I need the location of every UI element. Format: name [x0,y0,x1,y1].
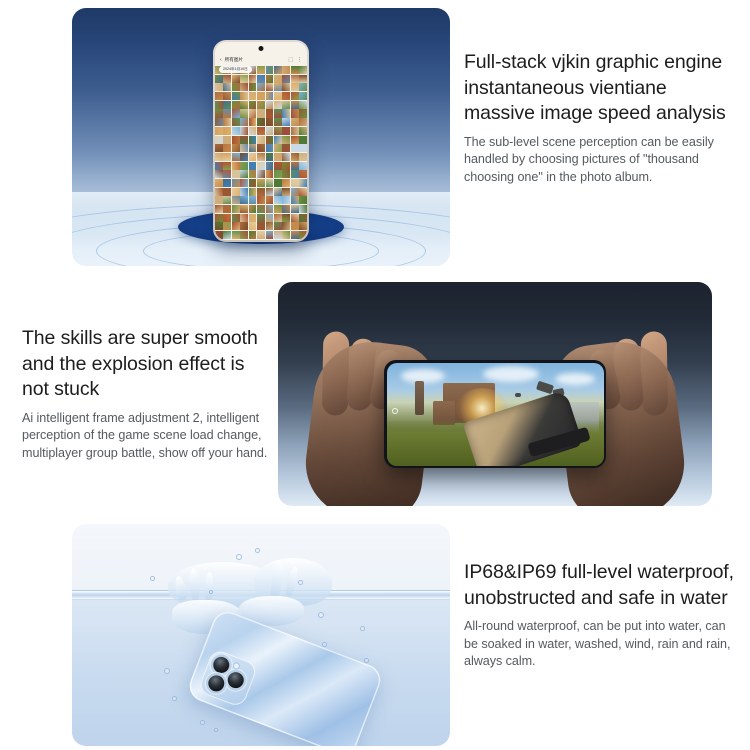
camera-module [197,648,258,708]
photo-thumbnail[interactable] [249,170,257,178]
photo-thumbnail[interactable] [257,109,265,117]
photo-thumbnail[interactable] [232,127,240,135]
photo-thumbnail[interactable] [223,179,231,187]
photo-thumbnail[interactable] [240,170,248,178]
photo-thumbnail[interactable] [266,144,274,152]
photo-thumbnail[interactable] [240,136,248,144]
photo-thumbnail[interactable] [215,153,223,161]
photo-thumbnail[interactable] [299,196,307,204]
photo-thumbnail[interactable] [232,222,240,230]
photo-thumbnail[interactable] [249,136,257,144]
photo-thumbnail[interactable] [232,231,240,239]
feature-headline: IP68&IP69 full-level waterproof, unobstr… [464,560,742,611]
phone-screen[interactable]: ‹ 所有图片 ⬚ ⋮ 2024年1月10日 [215,42,307,240]
photo-thumbnail[interactable] [266,66,274,74]
photo-thumbnail[interactable] [215,144,223,152]
photo-thumbnail[interactable] [274,196,282,204]
photo-thumbnail[interactable] [240,214,248,222]
photo-thumbnail[interactable] [240,231,248,239]
photo-thumbnail[interactable] [223,144,231,152]
photo-thumbnail[interactable] [223,127,231,135]
photo-thumbnail[interactable] [232,188,240,196]
photo-thumbnail[interactable] [274,214,282,222]
photo-thumbnail[interactable] [232,162,240,170]
photo-thumbnail[interactable] [215,231,223,239]
game-debris [536,380,554,394]
cloud [483,366,539,382]
photo-thumbnail[interactable] [299,144,307,152]
feature-body: The sub-level scene perception can be ea… [464,134,740,187]
photo-thumbnail[interactable] [282,127,290,135]
photo-thumbnail[interactable] [240,153,248,161]
photo-thumbnail[interactable] [223,196,231,204]
photo-thumbnail[interactable] [249,92,257,100]
photo-thumbnail[interactable] [274,127,282,135]
photo-thumbnail[interactable] [215,196,223,204]
photo-thumbnail[interactable] [291,136,299,144]
photo-thumbnail[interactable] [274,179,282,187]
gallery-title: 所有图片 [225,58,243,63]
photo-thumbnail[interactable] [232,101,240,109]
toolbar-actions: ⬚ ⋮ [288,58,302,63]
photo-thumbnail[interactable] [257,153,265,161]
back-icon[interactable]: ‹ [220,58,222,63]
photo-thumbnail[interactable] [266,118,274,126]
photo-thumbnail[interactable] [291,101,299,109]
photo-thumbnail[interactable] [257,66,265,74]
overflow-menu-icon[interactable]: ⋮ [297,58,302,63]
photo-thumbnail[interactable] [299,66,307,74]
photo-thumbnail[interactable] [291,75,299,83]
photo-thumbnail[interactable] [257,92,265,100]
photo-thumbnail[interactable] [257,118,265,126]
photo-thumbnail[interactable] [240,109,248,117]
photo-thumbnail[interactable] [299,205,307,213]
photo-thumbnail[interactable] [291,92,299,100]
game-tower [415,381,424,415]
photo-thumbnail[interactable] [291,144,299,152]
photo-thumbnail[interactable] [232,83,240,91]
photo-thumbnail[interactable] [266,92,274,100]
game-debris [515,393,521,397]
bubble [150,576,155,581]
photo-thumbnail[interactable] [249,179,257,187]
photo-thumbnail[interactable] [232,75,240,83]
photo-thumbnail[interactable] [266,109,274,117]
photo-thumbnail[interactable] [215,179,223,187]
photo-thumbnail[interactable] [282,136,290,144]
photo-thumbnail[interactable] [274,92,282,100]
bubble [164,668,170,674]
photo-thumbnail[interactable] [215,222,223,230]
photo-thumbnail[interactable] [249,118,257,126]
photo-thumbnail[interactable] [282,83,290,91]
photo-thumbnail[interactable] [299,188,307,196]
bubble [360,626,365,631]
feature-body: All-round waterproof, can be put into wa… [464,618,742,671]
photo-thumbnail[interactable] [282,109,290,117]
photo-thumbnail[interactable] [223,214,231,222]
photo-thumbnail[interactable] [299,153,307,161]
feature-image-gaming[interactable] [278,282,712,506]
photo-thumbnail[interactable] [291,153,299,161]
photo-thumbnail[interactable] [240,118,248,126]
photo-thumbnail[interactable] [232,205,240,213]
photo-thumbnail[interactable] [266,222,274,230]
photo-thumbnail[interactable] [223,162,231,170]
bubble [200,720,205,725]
photo-thumbnail[interactable] [291,127,299,135]
gallery-date-chip: 2024年1月10日 [219,66,252,73]
photo-thumbnail[interactable] [249,196,257,204]
photo-thumbnail[interactable] [282,75,290,83]
feature-text-gaming: The skills are super smooth and the expl… [22,326,274,462]
photo-thumbnail[interactable] [274,231,282,239]
photo-thumbnail[interactable] [249,162,257,170]
photo-thumbnail[interactable] [299,222,307,230]
photo-thumbnail[interactable] [215,101,223,109]
photo-thumbnail[interactable] [240,179,248,187]
photo-thumbnail[interactable] [274,83,282,91]
photo-thumbnail[interactable] [274,66,282,74]
photo-thumbnail[interactable] [266,162,274,170]
photo-thumbnail[interactable] [299,118,307,126]
photo-thumbnail[interactable] [274,109,282,117]
photo-thumbnail[interactable] [215,109,223,117]
camera-lens-icon [211,655,232,676]
feature-headline: The skills are super smooth and the expl… [22,326,274,403]
photo-thumbnail[interactable] [215,188,223,196]
photo-thumbnail[interactable] [232,196,240,204]
photo-thumbnail[interactable] [299,83,307,91]
game-hud-indicator[interactable] [392,408,398,414]
gallery-app-toolbar: ‹ 所有图片 ⬚ ⋮ [215,42,307,66]
phone-device-portrait[interactable]: ‹ 所有图片 ⬚ ⋮ 2024年1月10日 [213,40,309,242]
photo-thumbnail[interactable] [232,92,240,100]
photo-thumbnail[interactable] [223,231,231,239]
photo-thumbnail[interactable] [223,75,231,83]
bubble [318,612,324,618]
photo-thumbnail[interactable] [274,144,282,152]
photo-thumbnail[interactable] [232,179,240,187]
photo-thumbnail[interactable] [249,153,257,161]
photo-thumbnail[interactable] [282,153,290,161]
photo-thumbnail[interactable] [266,231,274,239]
photo-thumbnail[interactable] [291,170,299,178]
bubble [214,728,218,732]
photo-thumbnail[interactable] [257,101,265,109]
bubble [236,554,242,560]
photo-thumbnail[interactable] [291,109,299,117]
feature-text-graphic-engine: Full-stack vjkin graphic engine instanta… [464,50,740,186]
photo-thumbnail[interactable] [240,144,248,152]
photo-thumbnail[interactable] [257,179,265,187]
photo-thumbnail[interactable] [249,83,257,91]
photo-thumbnail[interactable] [299,231,307,239]
photo-thumbnail[interactable] [274,153,282,161]
photo-thumbnail[interactable] [299,92,307,100]
photo-thumbnail[interactable] [223,101,231,109]
photo-thumbnail[interactable] [266,127,274,135]
photo-thumbnail[interactable] [299,179,307,187]
photo-thumbnail[interactable] [282,179,290,187]
photo-thumbnail[interactable] [257,222,265,230]
photo-thumbnail[interactable] [299,136,307,144]
photo-thumbnail[interactable] [274,222,282,230]
photo-thumbnail[interactable] [223,153,231,161]
photo-thumbnail[interactable] [266,196,274,204]
photo-thumbnail[interactable] [215,92,223,100]
bubble [364,658,369,663]
photo-thumbnail[interactable] [240,205,248,213]
photo-thumbnail[interactable] [266,75,274,83]
photo-thumbnail[interactable] [223,170,231,178]
photo-thumbnail[interactable] [291,222,299,230]
photo-thumbnail[interactable] [215,136,223,144]
photo-thumbnail[interactable] [291,179,299,187]
photo-thumbnail[interactable] [232,153,240,161]
photo-thumbnail[interactable] [215,214,223,222]
photo-thumbnail[interactable] [299,214,307,222]
product-feature-page: ‹ 所有图片 ⬚ ⋮ 2024年1月10日 Full-stack vjkin g… [0,0,750,750]
photo-thumbnail-grid[interactable] [215,66,307,240]
photo-thumbnail[interactable] [249,101,257,109]
photo-thumbnail[interactable] [299,170,307,178]
photo-thumbnail[interactable] [249,214,257,222]
photo-thumbnail[interactable] [215,118,223,126]
photo-thumbnail[interactable] [240,188,248,196]
photo-thumbnail[interactable] [274,118,282,126]
photo-thumbnail[interactable] [274,170,282,178]
photo-thumbnail[interactable] [266,205,274,213]
photo-thumbnail[interactable] [257,162,265,170]
photo-thumbnail[interactable] [249,109,257,117]
photo-thumbnail[interactable] [257,231,265,239]
photo-thumbnail[interactable] [266,136,274,144]
photo-thumbnail[interactable] [223,222,231,230]
photo-thumbnail[interactable] [291,214,299,222]
photo-thumbnail[interactable] [274,101,282,109]
photo-thumbnail[interactable] [274,205,282,213]
phone-device-landscape[interactable] [384,360,606,468]
photo-thumbnail[interactable] [240,83,248,91]
bubble [255,548,260,553]
photo-thumbnail[interactable] [249,188,257,196]
photo-thumbnail[interactable] [291,83,299,91]
photo-thumbnail[interactable] [257,75,265,83]
photo-thumbnail[interactable] [282,118,290,126]
photo-thumbnail[interactable] [282,205,290,213]
feature-image-waterproof[interactable] [72,524,450,746]
photo-thumbnail[interactable] [232,136,240,144]
photo-thumbnail[interactable] [223,136,231,144]
photo-thumbnail[interactable] [266,170,274,178]
photo-thumbnail[interactable] [249,75,257,83]
photo-thumbnail[interactable] [215,205,223,213]
feature-body: Ai intelligent frame adjustment 2, intel… [22,410,274,463]
photo-thumbnail[interactable] [249,144,257,152]
photo-thumbnail[interactable] [232,144,240,152]
photo-thumbnail[interactable] [282,214,290,222]
photo-thumbnail[interactable] [223,118,231,126]
photo-thumbnail[interactable] [257,83,265,91]
select-icon[interactable]: ⬚ [288,58,293,63]
camera-flash-icon [233,663,239,669]
photo-thumbnail[interactable] [240,75,248,83]
photo-thumbnail[interactable] [274,162,282,170]
photo-thumbnail[interactable] [215,127,223,135]
photo-thumbnail[interactable] [257,144,265,152]
photo-thumbnail[interactable] [240,101,248,109]
photo-thumbnail[interactable] [215,83,223,91]
photo-thumbnail[interactable] [274,188,282,196]
photo-thumbnail[interactable] [266,153,274,161]
feature-image-graphic-engine[interactable]: ‹ 所有图片 ⬚ ⋮ 2024年1月10日 [72,8,450,266]
photo-thumbnail[interactable] [215,162,223,170]
photo-thumbnail[interactable] [257,127,265,135]
camera-lens-icon [206,673,227,694]
photo-thumbnail[interactable] [282,144,290,152]
photo-thumbnail[interactable] [240,196,248,204]
photo-thumbnail[interactable] [266,214,274,222]
photo-thumbnail[interactable] [282,66,290,74]
front-camera-punchhole [259,46,264,51]
photo-thumbnail[interactable] [223,92,231,100]
photo-thumbnail[interactable] [249,127,257,135]
photo-thumbnail[interactable] [215,75,223,83]
bubble [172,696,177,701]
feature-headline: Full-stack vjkin graphic engine instanta… [464,50,740,127]
photo-thumbnail[interactable] [282,101,290,109]
game-screen[interactable] [387,363,604,466]
photo-thumbnail[interactable] [282,170,290,178]
photo-thumbnail[interactable] [249,222,257,230]
photo-thumbnail[interactable] [299,127,307,135]
photo-thumbnail[interactable] [274,136,282,144]
photo-thumbnail[interactable] [223,188,231,196]
feature-text-waterproof: IP68&IP69 full-level waterproof, unobstr… [464,560,742,671]
photo-thumbnail[interactable] [291,205,299,213]
photo-thumbnail[interactable] [291,66,299,74]
photo-thumbnail[interactable] [257,188,265,196]
photo-thumbnail[interactable] [223,109,231,117]
cloud [555,373,595,385]
photo-thumbnail[interactable] [291,231,299,239]
photo-thumbnail[interactable] [215,170,223,178]
photo-thumbnail[interactable] [282,92,290,100]
photo-thumbnail[interactable] [249,231,257,239]
photo-thumbnail[interactable] [299,162,307,170]
photo-thumbnail[interactable] [291,188,299,196]
photo-thumbnail[interactable] [299,109,307,117]
photo-thumbnail[interactable] [232,109,240,117]
photo-thumbnail[interactable] [249,205,257,213]
photo-thumbnail[interactable] [257,196,265,204]
photo-thumbnail[interactable] [266,188,274,196]
photo-thumbnail[interactable] [240,92,248,100]
photo-thumbnail[interactable] [282,222,290,230]
photo-thumbnail[interactable] [240,162,248,170]
photo-thumbnail[interactable] [282,188,290,196]
photo-thumbnail[interactable] [257,170,265,178]
photo-thumbnail[interactable] [282,231,290,239]
photo-thumbnail[interactable] [257,136,265,144]
photo-thumbnail[interactable] [282,162,290,170]
photo-thumbnail[interactable] [282,196,290,204]
photo-thumbnail[interactable] [299,101,307,109]
photo-thumbnail[interactable] [257,205,265,213]
photo-thumbnail[interactable] [232,214,240,222]
photo-thumbnail[interactable] [291,196,299,204]
photo-thumbnail[interactable] [232,170,240,178]
photo-thumbnail[interactable] [240,127,248,135]
photo-thumbnail[interactable] [232,118,240,126]
photo-thumbnail[interactable] [291,118,299,126]
camera-lens-icon [225,670,246,691]
photo-thumbnail[interactable] [257,214,265,222]
photo-thumbnail[interactable] [299,75,307,83]
photo-thumbnail[interactable] [223,83,231,91]
photo-thumbnail[interactable] [240,222,248,230]
bubble [298,580,303,585]
photo-thumbnail[interactable] [266,83,274,91]
photo-thumbnail[interactable] [223,205,231,213]
bubble [209,590,213,594]
photo-thumbnail[interactable] [291,162,299,170]
photo-thumbnail[interactable] [274,75,282,83]
photo-thumbnail[interactable] [266,101,274,109]
photo-thumbnail[interactable] [266,179,274,187]
